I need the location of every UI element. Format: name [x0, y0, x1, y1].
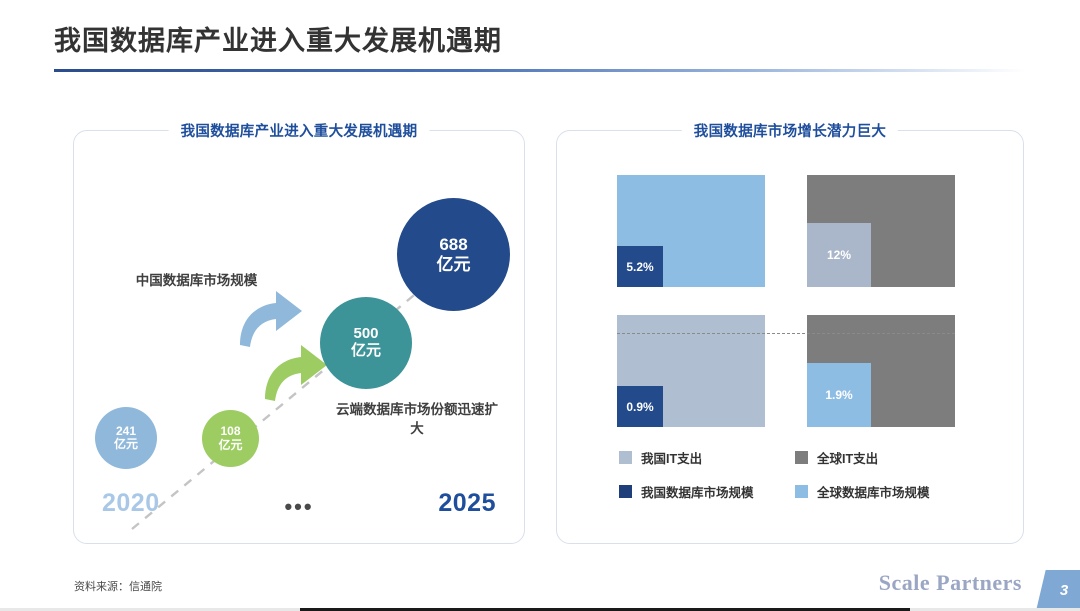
legend-label-1: 全球IT支出 [817, 448, 878, 467]
title-underline-rule [54, 69, 1026, 72]
square-cell-global-it-vs-db: 12% [807, 175, 955, 287]
bubble-108-value: 108 [220, 425, 240, 438]
bubble-500-unit: 亿元 [351, 343, 381, 360]
legend-label-3: 全球数据库市场规模 [817, 482, 930, 501]
square-label-3: 1.9% [825, 388, 852, 402]
brand-logo-text: Scale Partners [879, 570, 1022, 596]
source-note: 资料来源：信通院 [74, 578, 162, 594]
legend-swatch-1 [795, 451, 808, 464]
bubble-241: 241 亿元 [95, 407, 157, 469]
square-label-1: 12% [827, 248, 851, 262]
square-cell-global-db-market: 1.9% [807, 315, 955, 427]
annotation-cloud-db-market: 云端数据库市场份额迅速扩大 [332, 401, 502, 438]
square-cell-cn-db-vs-global: 5.2% [617, 175, 765, 287]
legend-label-0: 我国IT支出 [641, 448, 702, 467]
right-panel: 我国数据库市场增长潜力巨大 5.2% 12% 0.9% 1.9% [556, 130, 1024, 544]
bubble-688-unit: 亿元 [437, 255, 471, 274]
chart-dashed-divider [617, 333, 955, 334]
page-title: 我国数据库产业进入重大发展机遇期 [54, 22, 1026, 60]
legend-item-global-db-market: 全球数据库市场规模 [795, 482, 979, 501]
square-inner-0: 5.2% [617, 246, 663, 287]
legend-label-2: 我国数据库市场规模 [641, 482, 754, 501]
left-panel: 我国数据库产业进入重大发展机遇期 688 亿元 500 亿元 241 亿元 10… [73, 130, 525, 544]
bubble-688-value: 688 [439, 235, 467, 254]
right-panel-title: 我国数据库市场增长潜力巨大 [682, 120, 898, 141]
legend-item-cn-db-market: 我国数据库市场规模 [619, 482, 795, 501]
year-label-end: 2025 [438, 489, 496, 518]
bubble-108-unit: 亿元 [218, 439, 242, 452]
bubble-241-value: 241 [116, 425, 136, 438]
square-label-0: 5.2% [626, 260, 653, 274]
year-axis: 2020 ••• 2025 [74, 489, 524, 523]
annotation-china-db-market: 中国数据库市场规模 [114, 272, 279, 291]
bubble-chart: 688 亿元 500 亿元 241 亿元 108 亿元 中国数据库市场规模 云端… [74, 131, 524, 543]
chart-legend: 我国IT支出 全球IT支出 我国数据库市场规模 全球数据库市场规模 [619, 448, 979, 501]
square-inner-1: 12% [807, 223, 871, 287]
bubble-500: 500 亿元 [320, 297, 412, 389]
bubble-108: 108 亿元 [202, 410, 259, 467]
growth-arrow-blue-icon [234, 289, 306, 351]
square-label-2: 0.9% [626, 400, 653, 414]
year-axis-ellipsis: ••• [284, 494, 313, 520]
legend-swatch-2 [619, 485, 632, 498]
legend-swatch-0 [619, 451, 632, 464]
legend-item-global-it-spend: 全球IT支出 [795, 448, 979, 467]
year-label-start: 2020 [102, 489, 160, 518]
bubble-500-value: 500 [353, 326, 378, 343]
page-number-badge: 3 [1036, 570, 1080, 611]
nested-square-chart: 5.2% 12% 0.9% 1.9% [557, 167, 1023, 437]
bubble-688: 688 亿元 [397, 198, 510, 311]
bubble-241-unit: 亿元 [114, 438, 138, 451]
legend-item-cn-it-spend: 我国IT支出 [619, 448, 795, 467]
square-inner-2: 0.9% [617, 386, 663, 427]
legend-swatch-3 [795, 485, 808, 498]
square-cell-cn-it-vs-db: 0.9% [617, 315, 765, 427]
slide-header: 我国数据库产业进入重大发展机遇期 [54, 22, 1026, 72]
square-inner-3: 1.9% [807, 363, 871, 427]
